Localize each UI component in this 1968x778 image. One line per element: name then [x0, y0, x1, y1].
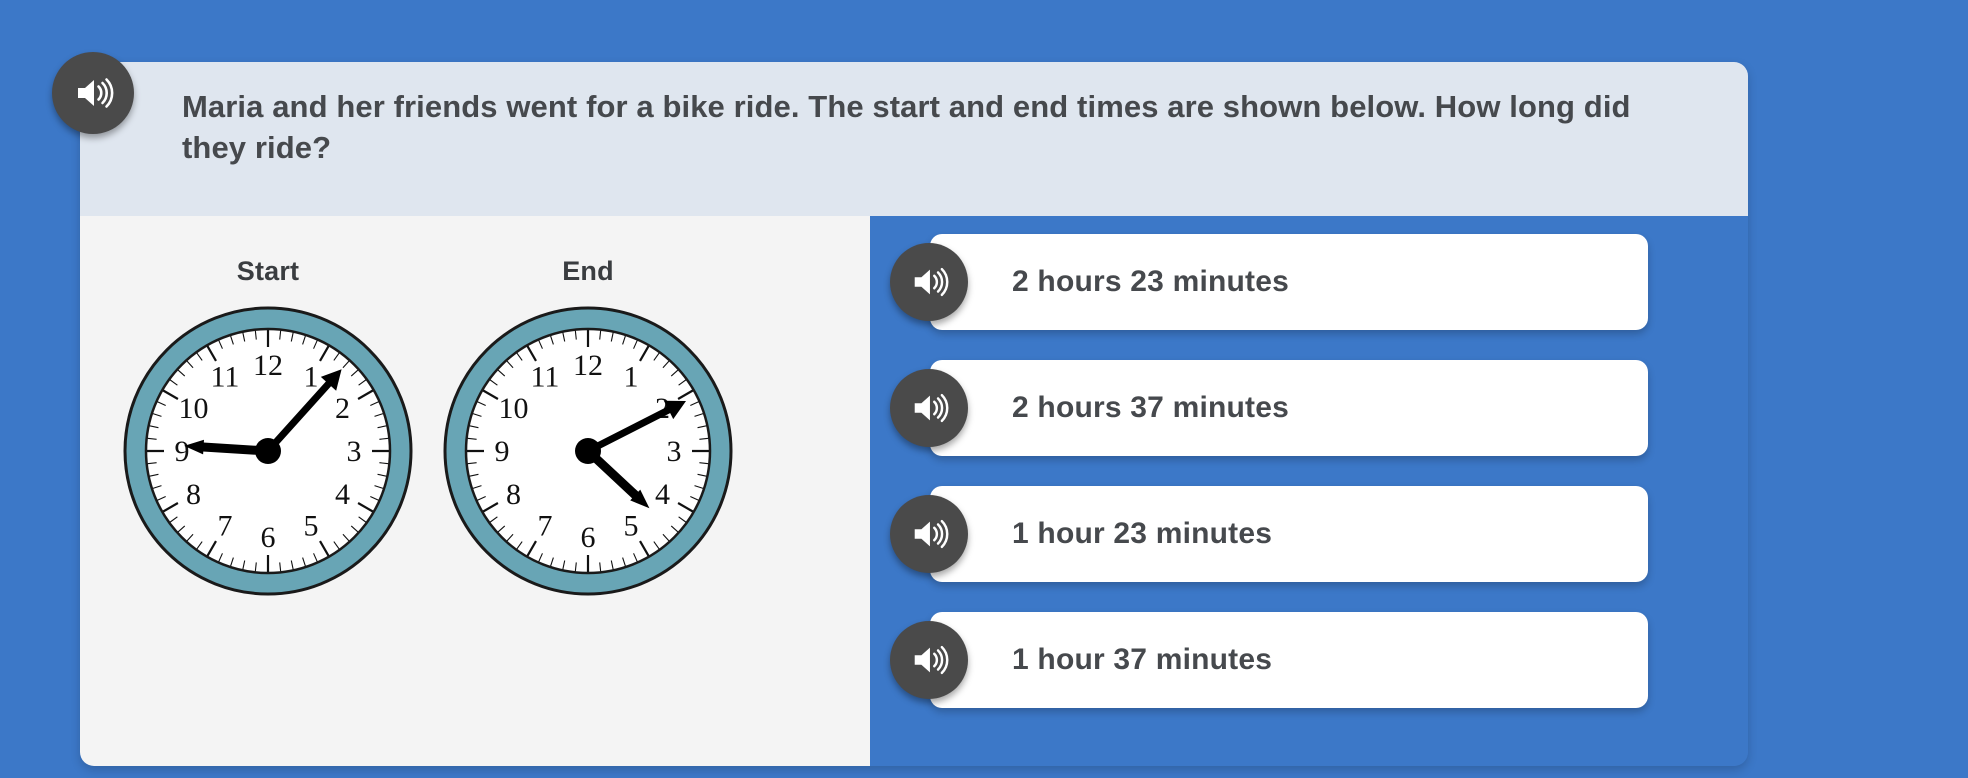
svg-text:3: 3	[347, 435, 362, 468]
svg-text:10: 10	[499, 392, 529, 425]
option-3-label: 1 hour 23 minutes	[1012, 517, 1272, 551]
svg-text:3: 3	[667, 435, 682, 468]
speaker-icon	[909, 262, 949, 302]
question-card: Maria and her friends went for a bike ri…	[80, 62, 1748, 766]
svg-text:1: 1	[624, 361, 639, 394]
clock-end-face: 121234567891011	[438, 301, 738, 601]
app-root: Maria and her friends went for a bike ri…	[0, 0, 1968, 778]
svg-text:6: 6	[261, 521, 276, 554]
answer-option-4[interactable]: 1 hour 37 minutes	[930, 612, 1648, 708]
clocks-panel: Start 121234567891011 End	[80, 216, 870, 766]
svg-text:2: 2	[335, 392, 350, 425]
option-2-speaker-button[interactable]	[890, 369, 968, 447]
clock-start-label: Start	[108, 256, 428, 287]
speaker-icon	[909, 514, 949, 554]
clock-start: Start 121234567891011	[108, 256, 428, 601]
svg-text:7: 7	[538, 509, 553, 542]
option-3-speaker-button[interactable]	[890, 495, 968, 573]
option-1-label: 2 hours 23 minutes	[1012, 265, 1289, 299]
speaker-icon	[909, 640, 949, 680]
svg-text:9: 9	[495, 435, 510, 468]
option-4-speaker-button[interactable]	[890, 621, 968, 699]
svg-text:11: 11	[211, 361, 240, 394]
svg-text:4: 4	[335, 478, 350, 511]
svg-text:4: 4	[655, 478, 670, 511]
answer-option-3[interactable]: 1 hour 23 minutes	[930, 486, 1648, 582]
svg-text:8: 8	[506, 478, 521, 511]
speaker-icon	[72, 72, 114, 114]
svg-text:11: 11	[531, 361, 560, 394]
clock-start-face: 121234567891011	[118, 301, 418, 601]
speaker-icon	[909, 388, 949, 428]
clock-end-label: End	[428, 256, 748, 287]
answer-options-panel: 2 hours 23 minutes 2 hours 37 minutes	[870, 216, 1748, 766]
option-4-label: 1 hour 37 minutes	[1012, 643, 1272, 677]
question-speaker-button[interactable]	[52, 52, 134, 134]
svg-text:6: 6	[581, 521, 596, 554]
svg-text:7: 7	[218, 509, 233, 542]
question-text: Maria and her friends went for a bike ri…	[182, 86, 1682, 168]
question-banner: Maria and her friends went for a bike ri…	[80, 62, 1748, 216]
clock-end: End 121234567891011	[428, 256, 748, 601]
option-1-speaker-button[interactable]	[890, 243, 968, 321]
answer-option-2[interactable]: 2 hours 37 minutes	[930, 360, 1648, 456]
svg-text:9: 9	[175, 435, 190, 468]
svg-text:5: 5	[304, 509, 319, 542]
svg-text:12: 12	[253, 349, 283, 382]
answer-option-1[interactable]: 2 hours 23 minutes	[930, 234, 1648, 330]
svg-text:12: 12	[573, 349, 603, 382]
svg-text:8: 8	[186, 478, 201, 511]
svg-text:5: 5	[624, 509, 639, 542]
svg-text:10: 10	[179, 392, 209, 425]
svg-text:1: 1	[304, 361, 319, 394]
option-2-label: 2 hours 37 minutes	[1012, 391, 1289, 425]
